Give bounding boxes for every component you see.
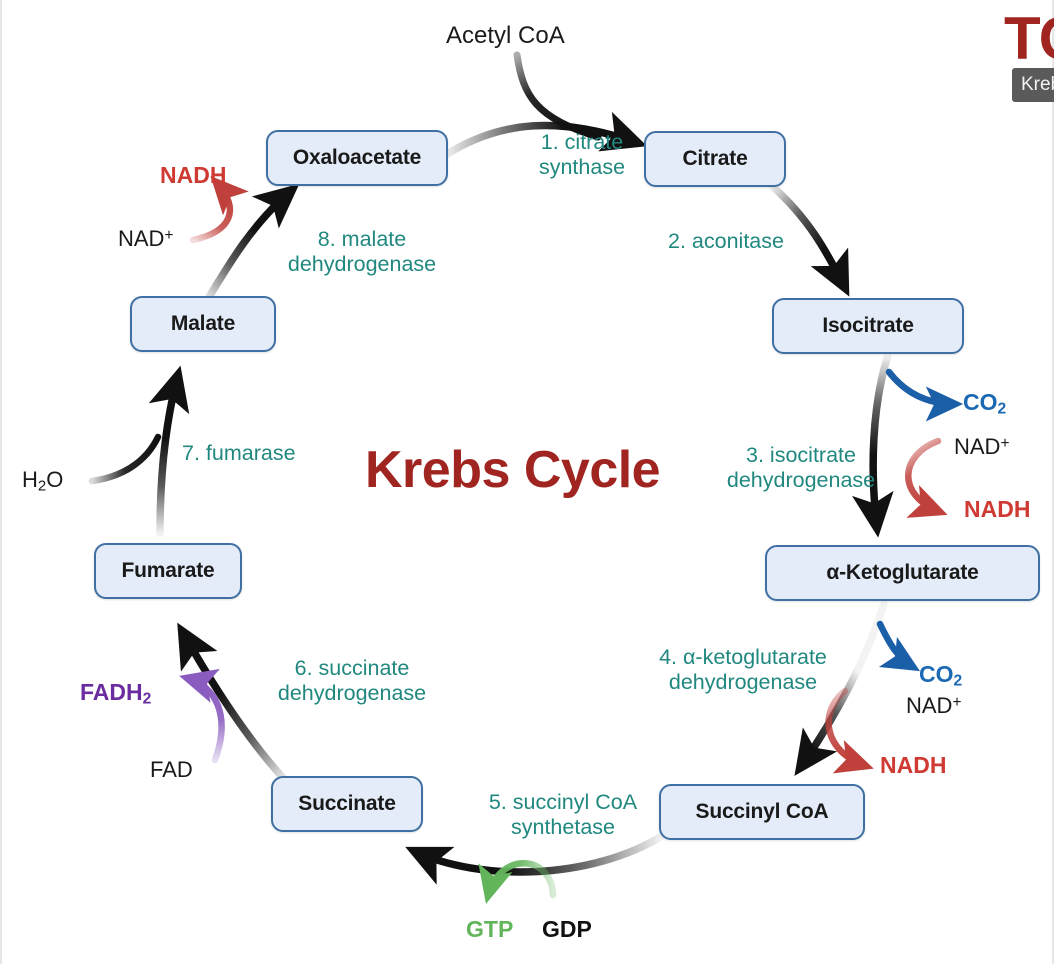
label-nadh-step8: NADH [160, 162, 226, 189]
nad-plus-sign: + [1000, 435, 1009, 452]
nad-plus-sign: + [952, 694, 961, 711]
arrow-gdp-to-gtp [488, 863, 553, 896]
node-label: Fumarate [122, 559, 215, 583]
arrow-co2-release-step3 [889, 372, 955, 404]
node-malate[interactable]: Malate [130, 296, 276, 352]
co2-subscript: 2 [998, 400, 1007, 417]
label-nad-step8: NAD+ [118, 226, 173, 252]
label-co2-step4: CO2 [919, 661, 962, 690]
label-gtp: GTP [466, 916, 513, 943]
arrow-co2-release-step4 [880, 624, 913, 667]
label-h2o: H2O [22, 467, 63, 494]
label-fadh2: FADH2 [80, 679, 151, 708]
arrow-nad-to-nadh-step8 [193, 182, 230, 240]
co2-text: CO [963, 389, 998, 415]
nad-text: NAD [906, 693, 952, 718]
node-label: α-Ketoglutarate [826, 561, 978, 585]
node-oxaloacetate[interactable]: Oxaloacetate [266, 130, 448, 186]
enzyme-label-8-malate-dehydrogenase: 8. malate dehydrogenase [266, 227, 458, 276]
page-title: Krebs Cycle [365, 440, 660, 500]
enzyme-label-7-fumarase: 7. fumarase [182, 441, 362, 466]
arrow-succinylcoa-to-succinate [414, 836, 662, 872]
nad-text: NAD [118, 226, 164, 251]
node-alpha-ketoglutarate[interactable]: α-Ketoglutarate [765, 545, 1040, 601]
arrow-h2o-input [92, 437, 158, 481]
enzyme-label-2-aconitase: 2. aconitase [620, 229, 832, 254]
watermark-tooltip: Krebs [1012, 68, 1054, 102]
arrow-acetyl-coa-input [517, 55, 598, 137]
watermark-logo: TO [1004, 4, 1054, 73]
arrow-isocitrate-to-ketoglutarate [873, 355, 888, 528]
h2o-subscript: 2 [38, 477, 46, 494]
arrow-fumarate-to-malate [160, 375, 178, 533]
enzyme-label-6-succinate-dehydrogenase: 6. succinate dehydrogenase [248, 656, 456, 705]
label-co2-step3: CO2 [963, 389, 1006, 418]
co2-subscript: 2 [954, 672, 963, 689]
node-isocitrate[interactable]: Isocitrate [772, 298, 964, 354]
node-label: Malate [171, 312, 235, 336]
node-label: Isocitrate [822, 314, 913, 338]
fadh2-text: FADH [80, 679, 143, 705]
label-gdp: GDP [542, 916, 592, 943]
enzyme-label-5-succinyl-coa-synthetase: 5. succinyl CoA synthetase [458, 790, 668, 839]
node-label: Succinate [298, 792, 395, 816]
arrow-succinate-to-fumarate [182, 631, 285, 780]
h2o-o: O [46, 467, 63, 492]
enzyme-label-1-citrate-synthase: 1. citrate synthase [498, 130, 666, 179]
label-acetyl-coa: Acetyl CoA [446, 22, 565, 50]
label-fad: FAD [150, 757, 193, 783]
arrow-nad-to-nadh-step4 [829, 691, 866, 766]
label-nadh-step4: NADH [880, 752, 946, 779]
label-nadh-step3: NADH [964, 496, 1030, 523]
arrow-fad-to-fadh2 [187, 678, 222, 760]
fadh2-subscript: 2 [143, 690, 152, 707]
nad-text: NAD [954, 434, 1000, 459]
enzyme-label-4-ketoglutarate-dehydrogenase: 4. α-ketoglutarate dehydrogenase [618, 645, 868, 694]
node-label: Citrate [682, 147, 747, 171]
diagram-canvas: Oxaloacetate Citrate Isocitrate α-Ketogl… [0, 0, 1054, 964]
label-nad-step3: NAD+ [954, 434, 1009, 460]
label-nad-step4: NAD+ [906, 693, 961, 719]
node-succinate[interactable]: Succinate [271, 776, 423, 832]
nad-plus-sign: + [164, 227, 173, 244]
arrow-nad-to-nadh-step3 [908, 441, 940, 512]
h2o-h: H [22, 467, 38, 492]
enzyme-label-3-isocitrate-dehydrogenase: 3. isocitrate dehydrogenase [696, 443, 906, 492]
node-label: Succinyl CoA [696, 800, 829, 824]
co2-text: CO [919, 661, 954, 687]
node-succinyl-coa[interactable]: Succinyl CoA [659, 784, 865, 840]
left-page-edge [0, 0, 2, 964]
node-fumarate[interactable]: Fumarate [94, 543, 242, 599]
node-label: Oxaloacetate [293, 146, 421, 170]
